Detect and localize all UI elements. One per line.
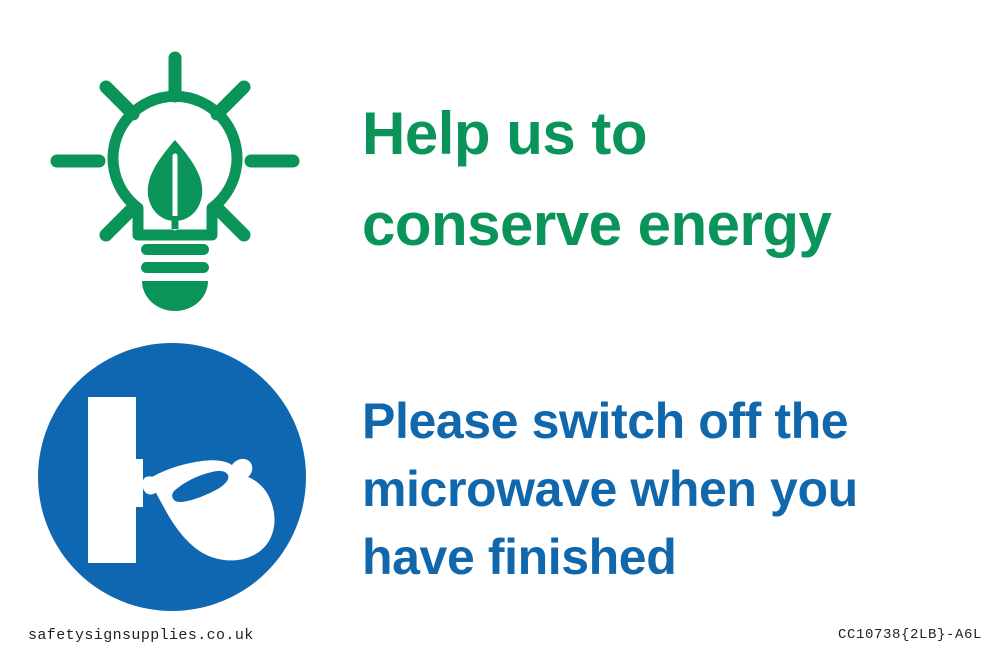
switch-off-line-3: have finished: [362, 523, 952, 591]
wall-switch-plate: [88, 397, 143, 563]
supplier-website: safetysignsupplies.co.uk: [28, 627, 254, 644]
conserve-energy-message: Help us to conserve energy: [362, 88, 942, 270]
product-code: CC10738{2LB}-A6L: [838, 627, 982, 643]
switch-off-microwave-message: Please switch off the microwave when you…: [362, 387, 952, 591]
conserve-energy-line-1: Help us to: [362, 88, 942, 179]
energy-saving-lightbulb-icon: [20, 30, 340, 320]
safety-sign: Help us to conserve energy Please switch…: [0, 0, 1000, 666]
switch-off-line-2: microwave when you: [362, 455, 952, 523]
conserve-energy-line-2: conserve energy: [362, 179, 942, 270]
switch-off-line-1: Please switch off the: [362, 387, 952, 455]
switch-off-mandatory-icon: [36, 341, 308, 613]
